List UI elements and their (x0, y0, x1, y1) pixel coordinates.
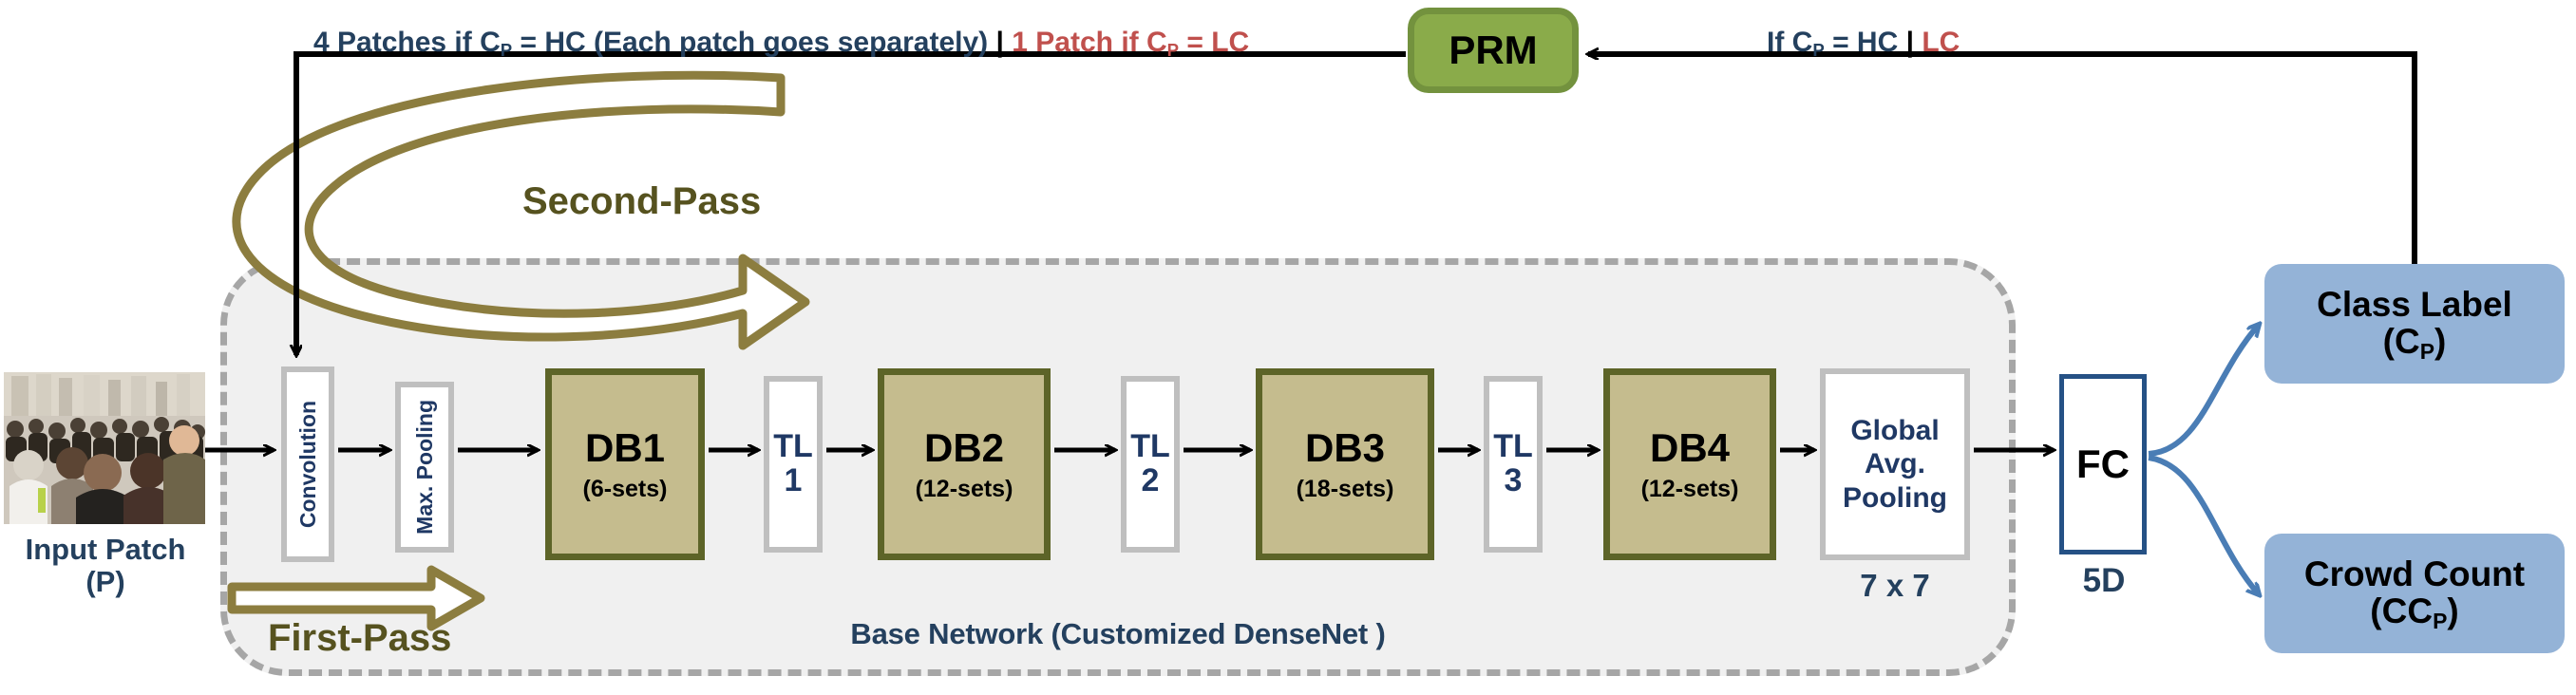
block-db2[interactable]: DB2 (12-sets) (878, 368, 1051, 560)
block-db4-title: DB4 (1650, 428, 1730, 468)
block-max-pooling[interactable]: Max. Pooling (395, 382, 454, 553)
class-label-line1: Class Label (2317, 287, 2512, 324)
input-patch-label-line2: (P) (85, 565, 124, 598)
gap-line2: Avg. (1865, 447, 1925, 480)
diagram-canvas: Input Patch (P) Convolution Max. Pooling… (0, 0, 2576, 695)
block-tl2-number: 2 (1142, 464, 1160, 498)
input-patch-label: Input Patch (P) (0, 534, 211, 598)
block-convolution-label: Convolution (296, 401, 319, 528)
input-patch-image (4, 372, 205, 524)
block-db3-subtitle: (18-sets) (1297, 478, 1394, 501)
top-right-note: If CP = HC | LC (1767, 27, 2166, 59)
output-class-label[interactable]: Class Label (CP) (2264, 264, 2565, 384)
block-prm-label: PRM (1449, 28, 1537, 73)
classlabel-to-prm-path (1588, 54, 2415, 266)
block-fc-label: FC (2076, 441, 2130, 487)
gap-caption: 7 x 7 (1820, 568, 1970, 604)
block-tl3[interactable]: TL 3 (1484, 376, 1543, 553)
block-fc[interactable]: FC (2059, 374, 2147, 554)
block-tl1-number: 1 (785, 464, 803, 498)
block-tl3-title: TL (1493, 430, 1533, 464)
second-pass-label: Second-Pass (522, 180, 761, 223)
block-tl1[interactable]: TL 1 (764, 376, 823, 553)
fc-branch-arrows (2149, 325, 2259, 594)
crowd-count-line1: Crowd Count (2304, 556, 2525, 593)
block-db2-subtitle: (12-sets) (916, 478, 1013, 501)
gap-line3: Pooling (1843, 481, 1947, 515)
input-patch-label-line1: Input Patch (26, 533, 186, 566)
block-convolution[interactable]: Convolution (281, 366, 334, 562)
note-separator-right: | (1906, 27, 1914, 58)
gap-line1: Global (1850, 414, 1939, 447)
block-tl1-title: TL (773, 430, 813, 464)
block-db1[interactable]: DB1 (6-sets) (545, 368, 705, 560)
top-left-note: 4 Patches if CP = HC (Each patch goes se… (313, 27, 1387, 59)
note-separator: | (996, 27, 1004, 58)
block-max-pooling-label: Max. Pooling (413, 400, 436, 535)
block-db3-title: DB3 (1305, 428, 1385, 468)
block-db1-title: DB1 (585, 428, 665, 468)
block-db1-subtitle: (6-sets) (583, 478, 668, 501)
block-db4[interactable]: DB4 (12-sets) (1603, 368, 1776, 560)
block-db4-subtitle: (12-sets) (1641, 478, 1739, 501)
base-network-label: Base Network (Customized DenseNet ) (220, 617, 2016, 651)
fc-caption: 5D (2042, 562, 2166, 600)
crowd-count-line2: (CCP) (2370, 593, 2458, 630)
block-prm[interactable]: PRM (1408, 8, 1579, 93)
class-label-line2: (CP) (2383, 324, 2447, 361)
block-tl2-title: TL (1130, 430, 1170, 464)
block-db3[interactable]: DB3 (18-sets) (1256, 368, 1434, 560)
block-tl2[interactable]: TL 2 (1121, 376, 1180, 553)
output-crowd-count[interactable]: Crowd Count (CCP) (2264, 534, 2565, 653)
block-db2-title: DB2 (924, 428, 1004, 468)
block-tl3-number: 3 (1505, 464, 1523, 498)
block-global-avg-pooling[interactable]: Global Avg. Pooling (1820, 368, 1970, 560)
